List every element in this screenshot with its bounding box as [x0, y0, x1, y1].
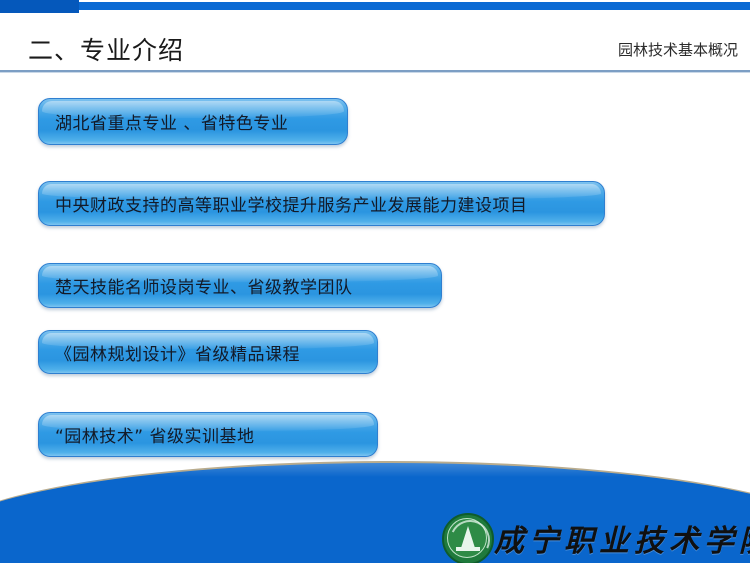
presentation-slide: 二、专业介绍 园林技术基本概况 湖北省重点专业 、省特色专业 中央财政支持的高等… — [0, 0, 750, 563]
header-divider-shadow — [0, 72, 750, 73]
highlight-box-4-label: 《园林规划设计》省级精品课程 — [39, 340, 300, 365]
highlight-box-4[interactable]: 《园林规划设计》省级精品课程 — [38, 330, 378, 374]
highlight-box-2[interactable]: 中央财政支持的高等职业学校提升服务产业发展能力建设项目 — [38, 181, 605, 226]
college-name: 成宁职业技术学院 — [494, 516, 750, 560]
emblem-base — [456, 547, 480, 551]
highlight-box-1[interactable]: 湖北省重点专业 、省特色专业 — [38, 98, 348, 145]
college-emblem-icon — [442, 513, 494, 563]
top-bar-light-segment — [0, 2, 750, 10]
highlight-box-3-label: 楚天技能名师设岗专业、省级教学团队 — [39, 273, 353, 298]
highlight-box-2-label: 中央财政支持的高等职业学校提升服务产业发展能力建设项目 — [39, 191, 528, 216]
top-decoration-bar — [0, 0, 750, 13]
slide-section-label: 园林技术基本概况 — [618, 39, 738, 60]
highlight-box-1-label: 湖北省重点专业 、省特色专业 — [39, 109, 288, 134]
emblem-tower-icon — [461, 526, 475, 548]
top-bar-dark-segment — [0, 0, 79, 13]
slide-title: 二、专业介绍 — [28, 31, 184, 67]
highlight-box-5-label: “园林技术” 省级实训基地 — [39, 422, 255, 447]
highlight-box-3[interactable]: 楚天技能名师设岗专业、省级教学团队 — [38, 263, 442, 308]
highlight-box-5[interactable]: “园林技术” 省级实训基地 — [38, 412, 378, 457]
